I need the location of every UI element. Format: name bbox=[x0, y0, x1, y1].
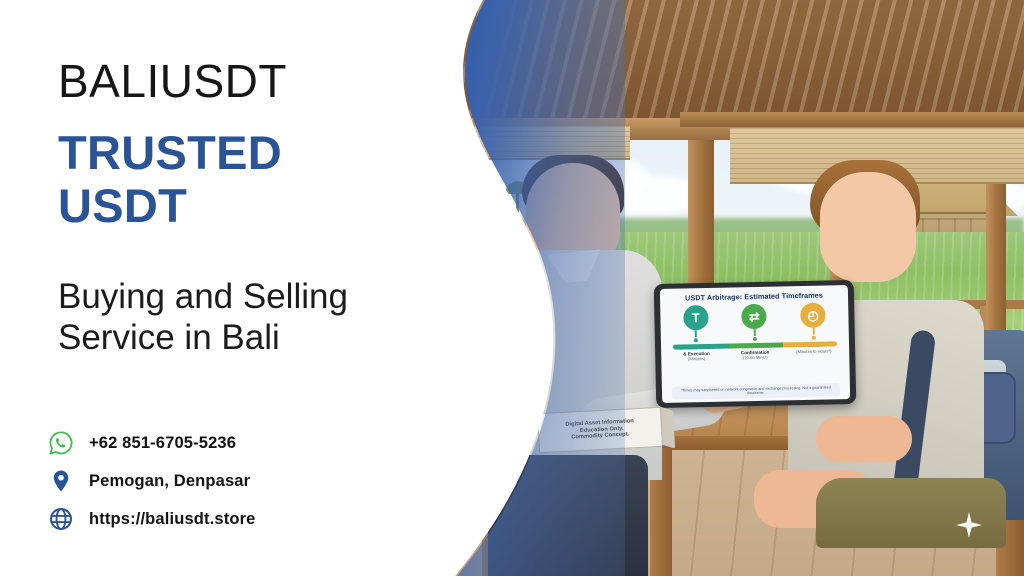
timeline-step: T 1. Identification& Execution (Minutes) bbox=[667, 305, 726, 364]
tablet-device[interactable]: USDT Arbitrage: Estimated Timeframes T 1… bbox=[654, 280, 857, 408]
palm-tree bbox=[516, 188, 519, 236]
step-stem bbox=[812, 328, 814, 335]
timeline-steps: T 1. Identification& Execution (Minutes)… bbox=[666, 302, 843, 363]
contact-list: +62 851-6705-5236 Pemogan, Denpasar bbox=[46, 424, 255, 538]
step-stem bbox=[754, 329, 756, 336]
infographic-footnote: *Times may vary based on network congest… bbox=[672, 383, 840, 400]
person-right-hands bbox=[816, 416, 912, 462]
timeline-step: ⇄ 2. Transfer &Confirmation (10-60 Mins*… bbox=[725, 303, 784, 362]
whatsapp-icon bbox=[46, 428, 76, 458]
person-right-shorts bbox=[816, 478, 1006, 548]
step-node bbox=[752, 336, 758, 342]
headline: TRUSTED USDT bbox=[58, 127, 282, 232]
globe-icon bbox=[46, 504, 76, 534]
illustration-scene: USDT Arbitrage: Estimated Timeframes T 1… bbox=[430, 0, 1024, 576]
step-node bbox=[693, 337, 699, 343]
person-right-head bbox=[820, 172, 916, 282]
tether-coin-icon: T bbox=[683, 305, 709, 331]
step-duration: (Minutes to Hours*) bbox=[785, 349, 843, 355]
clock-icon: ◴ bbox=[800, 303, 826, 329]
step-stem bbox=[695, 330, 697, 337]
step-node bbox=[810, 335, 816, 341]
website-url: https://baliusdt.store bbox=[89, 510, 255, 529]
address-text: Pemogan, Denpasar bbox=[89, 472, 250, 491]
table-placard: Digital Asset Information · Education On… bbox=[537, 407, 663, 453]
text-panel: BALIUSDT TRUSTED USDT Buying and Selling… bbox=[0, 0, 430, 576]
tablet-screen: USDT Arbitrage: Estimated Timeframes T 1… bbox=[660, 285, 850, 403]
person-left-legs bbox=[488, 455, 648, 576]
promotional-banner: USDT Arbitrage: Estimated Timeframes T 1… bbox=[0, 0, 1024, 576]
subheadline-line-2: Service in Bali bbox=[58, 317, 348, 358]
contact-item-phone[interactable]: +62 851-6705-5236 bbox=[46, 424, 255, 462]
infographic-title: USDT Arbitrage: Estimated Timeframes bbox=[666, 290, 842, 303]
roof-beam bbox=[680, 112, 1024, 127]
subheadline: Buying and Selling Service in Bali bbox=[58, 276, 348, 359]
contact-item-address[interactable]: Pemogan, Denpasar bbox=[46, 462, 255, 500]
subheadline-line-1: Buying and Selling bbox=[58, 276, 348, 317]
placard-face: Digital Asset Information · Education On… bbox=[537, 407, 663, 453]
contact-item-website[interactable]: https://baliusdt.store bbox=[46, 500, 255, 538]
pavilion-roof bbox=[430, 0, 1024, 124]
palm-tree bbox=[478, 196, 481, 236]
headline-line-1: TRUSTED bbox=[58, 127, 282, 180]
phone-number: +62 851-6705-5236 bbox=[89, 434, 236, 453]
brand-name: BALIUSDT bbox=[58, 54, 287, 108]
exchange-arrows-icon: ⇄ bbox=[742, 304, 768, 330]
step-duration: (Minutes) bbox=[668, 357, 726, 363]
location-pin-icon bbox=[46, 466, 76, 496]
bamboo-blind bbox=[430, 126, 630, 160]
step-duration: (10-60 Mins*) bbox=[726, 356, 784, 362]
headline-line-2: USDT bbox=[58, 180, 282, 233]
